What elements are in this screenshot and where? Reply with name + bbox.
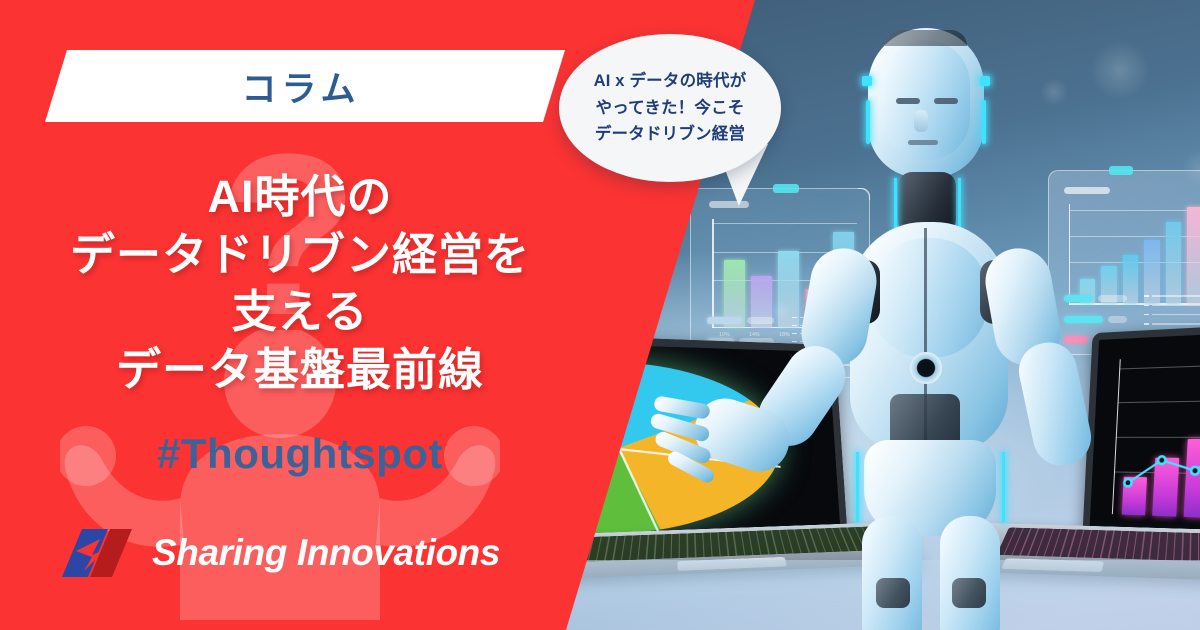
hud-right-chart-plot: [1069, 204, 1200, 305]
hud-list-dash: [1144, 314, 1149, 315]
robot-head-seam: [885, 30, 967, 46]
bokeh-glow-icon: [1090, 40, 1150, 100]
hud-list-dash: [1144, 295, 1149, 296]
robot-neck-neon-strip: [894, 178, 897, 230]
line-marker: [1157, 456, 1165, 464]
robot-head-neon-icon: [862, 76, 872, 86]
speech-bubble: AI x データの時代が やってきた！今こそ データドリブン経営: [559, 34, 781, 182]
robot-body-neon-strip: [856, 452, 859, 522]
humanoid-ai-robot: [790, 22, 1080, 630]
robot-chest-core-icon: [910, 352, 942, 384]
trend-line-markers: [1110, 351, 1200, 554]
hashtag-label: #Thoughtspot: [0, 430, 600, 478]
robot-knee-joint-left: [876, 578, 910, 608]
robot-eye-right: [934, 98, 958, 104]
speech-bubble-line: やってきた！今こそ: [594, 95, 747, 122]
robot-neck-neon-strip: [958, 178, 961, 230]
robot-knee-joint-right: [952, 578, 986, 608]
hud-bar: [1166, 222, 1181, 303]
speech-bubble-text: AI x データの時代が やってきた！今こそ データドリブン経営: [594, 68, 747, 148]
hud-list-dash: [1144, 305, 1149, 306]
page-title-line: データドリブン経営を: [0, 226, 600, 284]
page-title-line: AI時代の: [0, 168, 600, 226]
robot-eye-left: [896, 98, 920, 104]
hud-bar: [1187, 207, 1200, 303]
line-marker: [1124, 479, 1132, 487]
category-badge: コラム: [45, 50, 565, 122]
hud-list-line: [1152, 305, 1200, 306]
bar-line-chart: [1111, 351, 1200, 522]
robot-forearm-right: [1014, 337, 1097, 470]
speech-bubble-line: データドリブン経営: [594, 121, 747, 148]
hud-tab-icon: [1109, 166, 1133, 175]
page-title-line: 支える: [0, 283, 600, 341]
hud-list-row: [1144, 323, 1200, 324]
brand-logo[interactable]: Sharing Innovations: [62, 527, 500, 579]
hud-list-row: [1144, 305, 1200, 306]
robot-mouth: [908, 140, 938, 145]
page-title: AI時代の データドリブン経営を 支える データ基盤最前線: [0, 168, 600, 398]
page-title-line: データ基盤最前線: [0, 341, 600, 399]
hud-list-line: [1152, 295, 1200, 296]
sharing-innovations-lightning-mark-icon: [62, 527, 136, 579]
line-marker: [1191, 466, 1199, 474]
robot-head-neon-strip: [866, 100, 870, 144]
hud-label-pill: [709, 201, 749, 208]
hud-list-row: [1144, 314, 1200, 315]
hud-progress-fill: [707, 317, 742, 324]
hud-list-line: [1152, 323, 1200, 324]
robot-leg-left: [862, 516, 922, 630]
hud-progress-track: [1098, 295, 1127, 302]
column-banner: 10%14%18%11%24%: [0, 0, 1200, 630]
robot-nose: [914, 110, 928, 132]
hud-progress-track: [747, 317, 774, 324]
hud-list-dash: [1144, 323, 1149, 324]
robot-chest-plate: [870, 238, 988, 358]
speech-bubble-line: AI x データの時代が: [594, 68, 747, 95]
robot-head-neon-strip: [982, 100, 986, 144]
hud-bar: [1144, 240, 1159, 304]
hud-progress-bar: [707, 317, 774, 324]
hud-list-row: [1144, 295, 1200, 296]
hud-progress-track: [1108, 316, 1127, 323]
brand-logo-text: Sharing Innovations: [152, 532, 500, 574]
robot-head-neon-icon: [980, 76, 990, 86]
robot-body-neon-strip: [1002, 452, 1005, 522]
robot-leg-right: [940, 516, 1000, 630]
category-badge-label: コラム: [242, 61, 361, 112]
hud-list-line: [1152, 314, 1200, 315]
laptop-right-screen: [1082, 320, 1200, 558]
